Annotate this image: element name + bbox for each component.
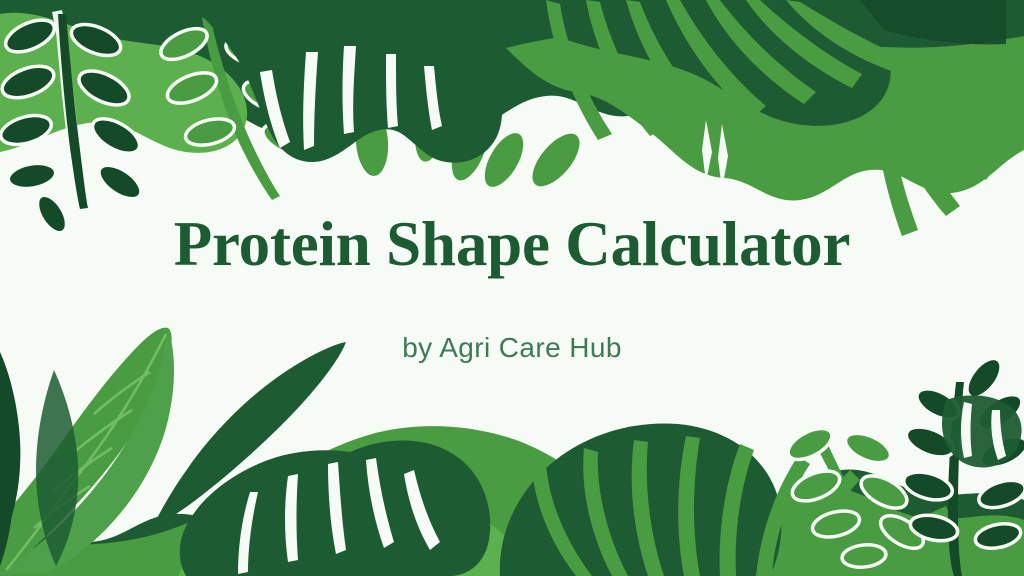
slide-canvas: Protein Shape Calculator by Agri Care Hu… bbox=[0, 0, 1024, 576]
decorative-foliage-artwork bbox=[0, 0, 1024, 576]
